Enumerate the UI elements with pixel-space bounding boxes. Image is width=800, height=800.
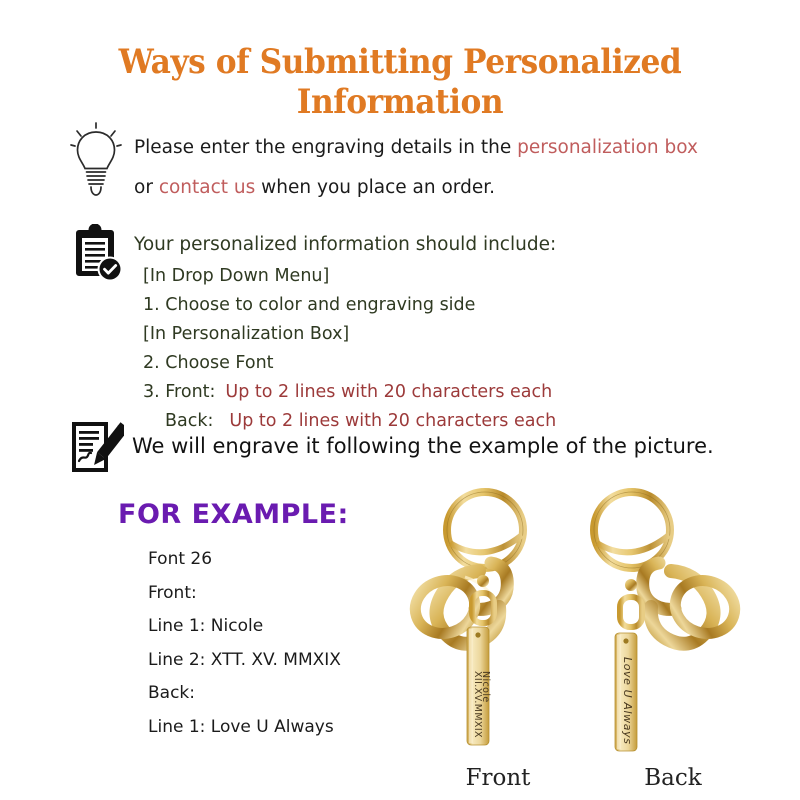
front-engraving-line2: XII.XV.MMXIX <box>472 671 483 738</box>
clipboard-item-list: [In Drop Down Menu] 1. Choose to color a… <box>143 262 663 436</box>
list-item: 1. Choose to color and engraving side <box>143 291 663 320</box>
list-item-label: [In Personalization Box] <box>143 320 349 349</box>
list-item-label: 3. Front: <box>143 378 215 407</box>
list-item: Back:Up to 2 lines with 20 characters ea… <box>143 407 663 436</box>
contact-us-link[interactable]: contact us <box>159 177 255 198</box>
clipboard-heading: Your personalized information should inc… <box>134 234 556 255</box>
keychain-back-image: Love U Always <box>570 485 755 770</box>
back-engraving-line1: Love U Always <box>621 657 634 745</box>
lightbulb-icon <box>68 122 124 198</box>
bulb-line-1: Please enter the engraving details in th… <box>134 128 734 168</box>
bulb-line2-prefix: or <box>134 177 159 198</box>
list-item-label: 2. Choose Font <box>143 349 274 378</box>
document-pen-icon <box>68 420 124 474</box>
keychain-front-image: Nicole XII.XV.MMXIX <box>395 485 580 770</box>
list-item: [In Drop Down Menu] <box>143 262 663 291</box>
front-caption: Front <box>438 765 558 791</box>
engrave-note-text: We will engrave it following the example… <box>132 434 714 458</box>
list-item-label: 1. Choose to color and engraving side <box>143 291 475 320</box>
list-item: [In Personalization Box] <box>143 320 663 349</box>
list-item: 2. Choose Font <box>143 349 663 378</box>
for-example-heading: FOR EXAMPLE: <box>118 499 349 530</box>
list-item-value: Up to 2 lines with 20 characters each <box>229 411 556 431</box>
list-item-label: [In Drop Down Menu] <box>143 262 329 291</box>
bulb-line2-suffix: when you place an order. <box>255 177 495 198</box>
personalization-box-link[interactable]: personalization box <box>517 137 698 158</box>
back-caption: Back <box>613 765 733 791</box>
infographic-page: Ways of Submitting Personalized Informat… <box>0 0 800 800</box>
bulb-line1-prefix: Please enter the engraving details in th… <box>134 137 517 158</box>
clipboard-check-icon <box>68 224 122 282</box>
page-title: Ways of Submitting Personalized Informat… <box>32 42 768 122</box>
bulb-line-2: or contact us when you place an order. <box>134 168 734 208</box>
list-item-value: Up to 2 lines with 20 characters each <box>225 382 552 402</box>
list-item: 3. Front:Up to 2 lines with 20 character… <box>143 378 663 407</box>
bulb-instruction-text: Please enter the engraving details in th… <box>134 128 734 208</box>
list-item-label: Back: <box>165 407 213 436</box>
